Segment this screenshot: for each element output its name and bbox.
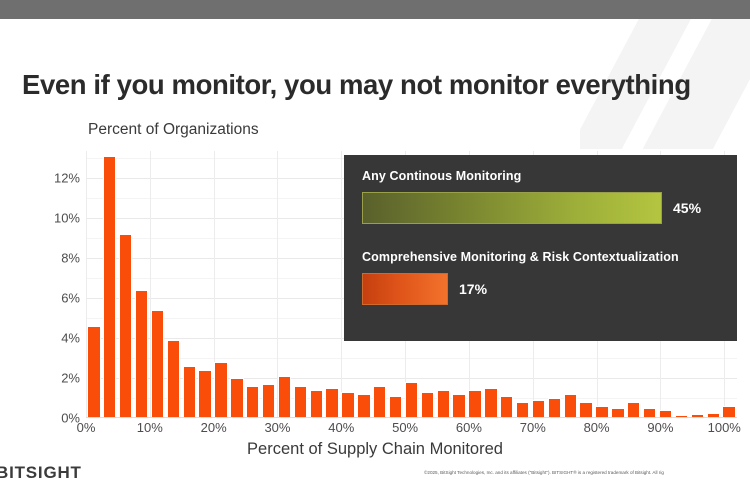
- x-axis-baseline: [86, 417, 737, 418]
- y-tick-label: 2%: [38, 371, 80, 386]
- x-tick-label: 10%: [137, 420, 163, 435]
- y-tick-label: 8%: [38, 251, 80, 266]
- bar: [262, 384, 275, 418]
- bar: [627, 402, 640, 418]
- callout-item2-block: Comprehensive Monitoring & Risk Contextu…: [362, 250, 719, 305]
- bar: [230, 378, 243, 418]
- bar: [214, 362, 227, 418]
- bar: [325, 388, 338, 418]
- bar: [278, 376, 291, 418]
- x-tick-label: 0%: [77, 420, 96, 435]
- bar: [167, 340, 180, 418]
- callout-item1-label: Any Continous Monitoring: [362, 169, 719, 183]
- bar: [294, 386, 307, 418]
- bar: [516, 402, 529, 418]
- callout-item1-value: 45%: [673, 200, 701, 216]
- callout-item1-row: 45%: [362, 192, 719, 224]
- x-tick-label: 60%: [456, 420, 482, 435]
- callout-item2-bar: [362, 273, 448, 305]
- bar: [532, 400, 545, 418]
- x-tick-label: 100%: [708, 420, 741, 435]
- x-axis-tick-labels: 0%10%20%30%40%50%60%70%80%90%100%: [86, 420, 737, 440]
- y-tick-label: 10%: [38, 211, 80, 226]
- x-tick-label: 30%: [264, 420, 290, 435]
- bar: [310, 390, 323, 418]
- top-band: [0, 0, 750, 19]
- callout-panel: Any Continous Monitoring 45% Comprehensi…: [344, 155, 737, 341]
- y-tick-label: 12%: [38, 171, 80, 186]
- slide-canvas: Even if you monitor, you may not monitor…: [0, 0, 750, 496]
- bar: [373, 386, 386, 418]
- x-tick-label: 80%: [584, 420, 610, 435]
- x-tick-label: 40%: [328, 420, 354, 435]
- bar: [198, 370, 211, 418]
- callout-item2-row: 17%: [362, 273, 719, 305]
- bar: [421, 392, 434, 418]
- y-tick-label: 0%: [38, 411, 80, 426]
- x-tick-label: 90%: [647, 420, 673, 435]
- y-axis-tick-labels: 0%2%4%6%8%10%12%: [32, 151, 80, 418]
- bar: [468, 390, 481, 418]
- y-tick-label: 6%: [38, 291, 80, 306]
- bar: [119, 234, 132, 418]
- x-axis-title: Percent of Supply Chain Monitored: [0, 440, 750, 459]
- bar: [103, 156, 116, 418]
- bar: [564, 394, 577, 418]
- copyright-notice: ©2025, BitSight Technologies, Inc. and i…: [424, 470, 750, 475]
- bar: [389, 396, 402, 418]
- bar: [500, 396, 513, 418]
- bitsight-logo: BITSIGHT: [0, 463, 82, 483]
- bar: [246, 386, 259, 418]
- page-title: Even if you monitor, you may not monitor…: [22, 70, 742, 100]
- callout-item2-label: Comprehensive Monitoring & Risk Contextu…: [362, 250, 719, 264]
- bar: [405, 382, 418, 418]
- bar: [151, 310, 164, 418]
- bar: [548, 398, 561, 418]
- bar: [579, 402, 592, 418]
- callout-item1-bar: [362, 192, 662, 224]
- bar: [437, 390, 450, 418]
- x-tick-label: 20%: [201, 420, 227, 435]
- callout-item2-value: 17%: [459, 281, 487, 297]
- bar: [357, 394, 370, 418]
- bar: [135, 290, 148, 418]
- bar: [484, 388, 497, 418]
- x-tick-label: 70%: [520, 420, 546, 435]
- bar: [87, 326, 100, 418]
- y-axis-title: Percent of Organizations: [88, 121, 259, 139]
- bar: [452, 394, 465, 418]
- x-tick-label: 50%: [392, 420, 418, 435]
- y-tick-label: 4%: [38, 331, 80, 346]
- bar: [341, 392, 354, 418]
- bar: [183, 366, 196, 418]
